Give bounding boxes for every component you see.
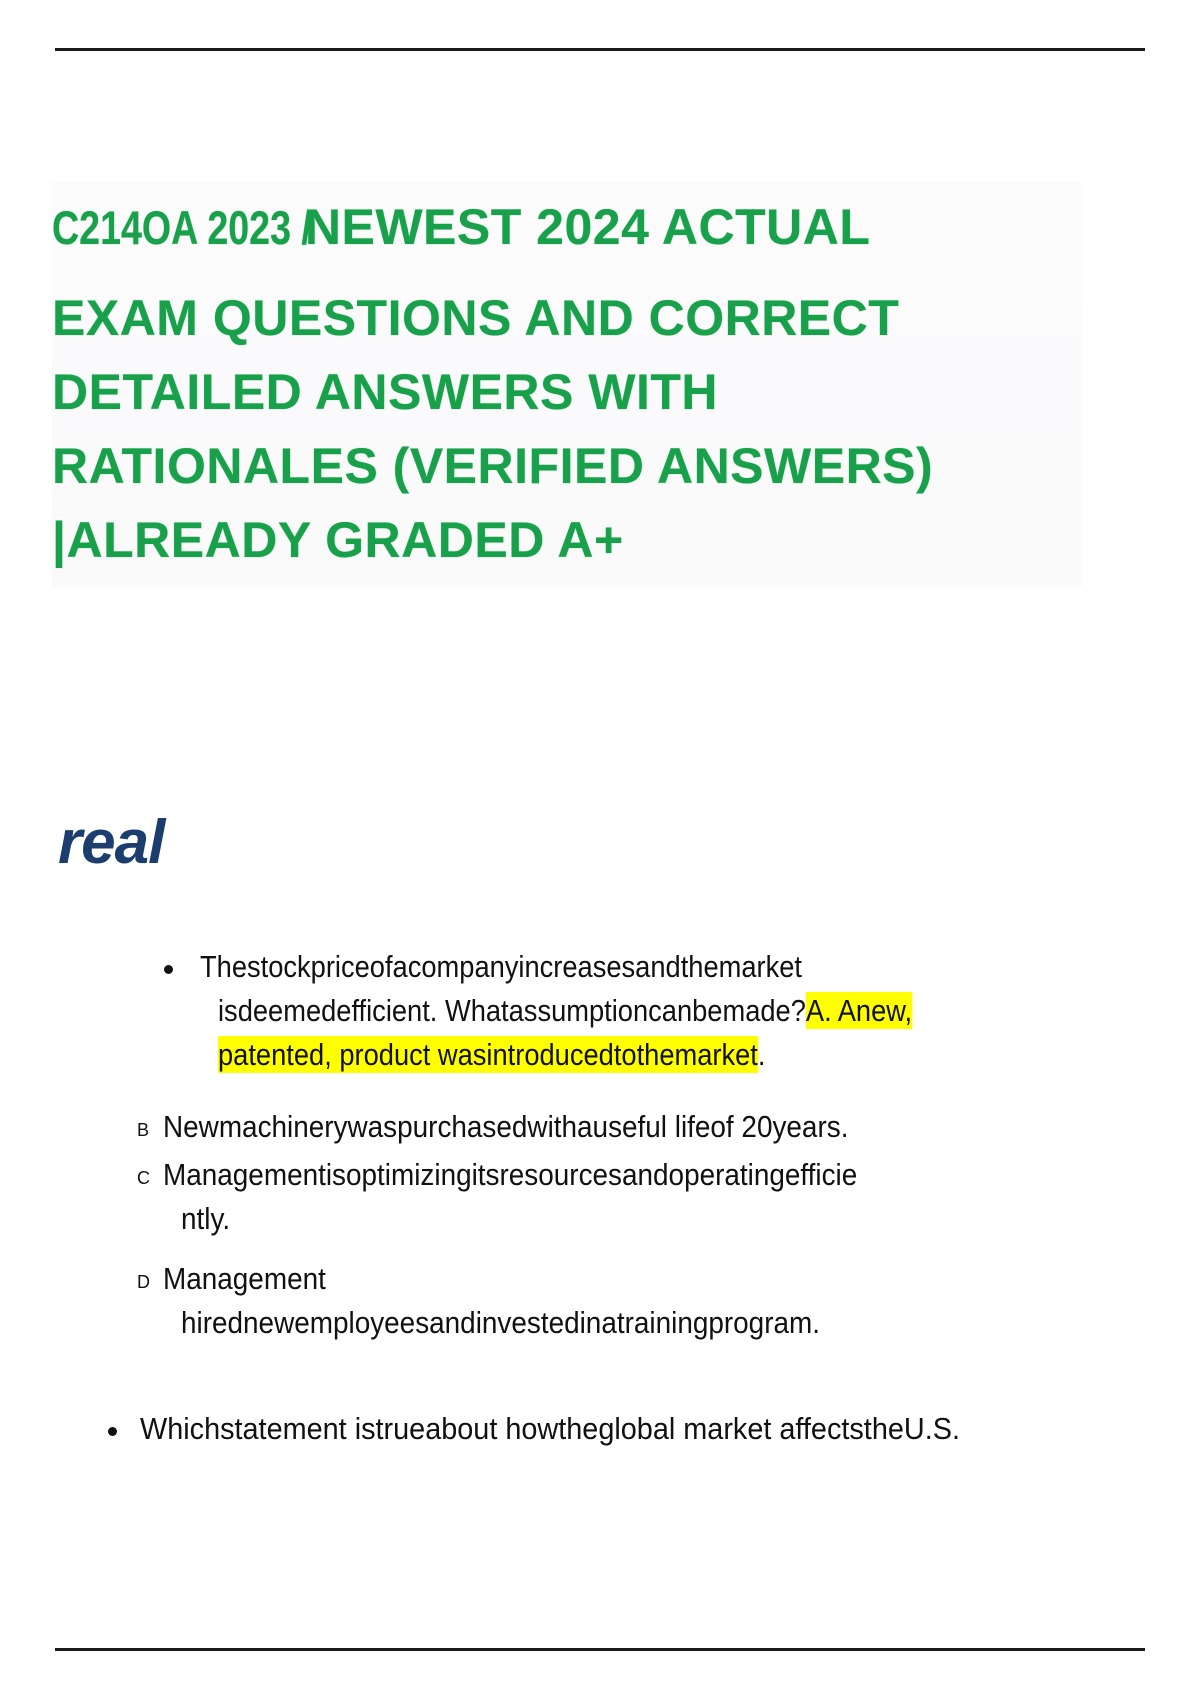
question-1-line-2: isdeemedefficient. Whatassumptioncanbema… bbox=[218, 989, 845, 1033]
option-c-text: Managementisoptimizingitsresourcesandope… bbox=[163, 1153, 1004, 1197]
option-d[interactable]: D Management bbox=[137, 1257, 1097, 1301]
option-b-text: Newmachinerywaspurchasedwithauseful life… bbox=[163, 1105, 1004, 1149]
title-line-3: DETAILED ANSWERS WITH bbox=[52, 355, 1082, 429]
title-line-5: |ALREADY GRADED A+ bbox=[52, 503, 1082, 577]
document-page: C214OA 2023 /NEWEST 2024 ACTUAL EXAM QUE… bbox=[0, 0, 1200, 1700]
title-line-2: EXAM QUESTIONS AND CORRECT bbox=[52, 281, 1082, 355]
question-1-prompt: isdeemedefficient. Whatassumptioncanbema… bbox=[218, 993, 806, 1028]
answer-highlight-part-2: patented, product wasintroducedtothemark… bbox=[218, 1036, 758, 1073]
question-2-line-1: Whichstatement istrueabout howtheglobal … bbox=[140, 1407, 1051, 1451]
option-d-text-line-2: hirednewemployeesandinvestedinatrainingp… bbox=[181, 1301, 1005, 1345]
option-d-letter: D bbox=[137, 1273, 150, 1291]
option-c[interactable]: C Managementisoptimizingitsresourcesando… bbox=[137, 1153, 1097, 1197]
option-c-letter: C bbox=[137, 1169, 150, 1187]
option-c-text-line-2: ntly. bbox=[181, 1197, 1005, 1241]
option-d-text: Management bbox=[163, 1257, 1004, 1301]
option-c-continuation: ntly. bbox=[137, 1197, 1097, 1241]
bullet-dot-icon bbox=[108, 1427, 117, 1436]
question-2-stem: Whichstatement istrueabout howtheglobal … bbox=[140, 1407, 1120, 1451]
option-d-continuation: hirednewemployeesandinvestedinatrainingp… bbox=[137, 1301, 1097, 1345]
question-1-line-1: Thestockpriceofacompanyincreasesandthema… bbox=[200, 945, 842, 989]
option-b-letter: B bbox=[137, 1121, 149, 1139]
bullet-dot-icon bbox=[164, 965, 173, 974]
question-1-stem: Thestockpriceofacompanyincreasesandthema… bbox=[200, 945, 930, 1077]
question-1-line-3: patented, product wasintroducedtothemark… bbox=[218, 1033, 845, 1077]
option-b[interactable]: B Newmachinerywaspurchasedwithauseful li… bbox=[137, 1105, 1097, 1149]
answer-highlight-part-1: A. Anew, bbox=[806, 992, 912, 1029]
answer-period: . bbox=[758, 1037, 766, 1072]
header-rule bbox=[55, 48, 1145, 51]
title-line-4: RATIONALES (VERIFIED ANSWERS) bbox=[52, 429, 1082, 503]
document-title: C214OA 2023 /NEWEST 2024 ACTUAL EXAM QUE… bbox=[52, 182, 1082, 587]
course-code: C214OA 2023 / bbox=[52, 191, 312, 265]
real-watermark: real bbox=[58, 808, 164, 878]
title-line-1-rest: NEWEST 2024 ACTUAL bbox=[305, 190, 871, 264]
title-line-1: C214OA 2023 /NEWEST 2024 ACTUAL bbox=[52, 190, 1082, 281]
footer-rule bbox=[55, 1648, 1145, 1651]
